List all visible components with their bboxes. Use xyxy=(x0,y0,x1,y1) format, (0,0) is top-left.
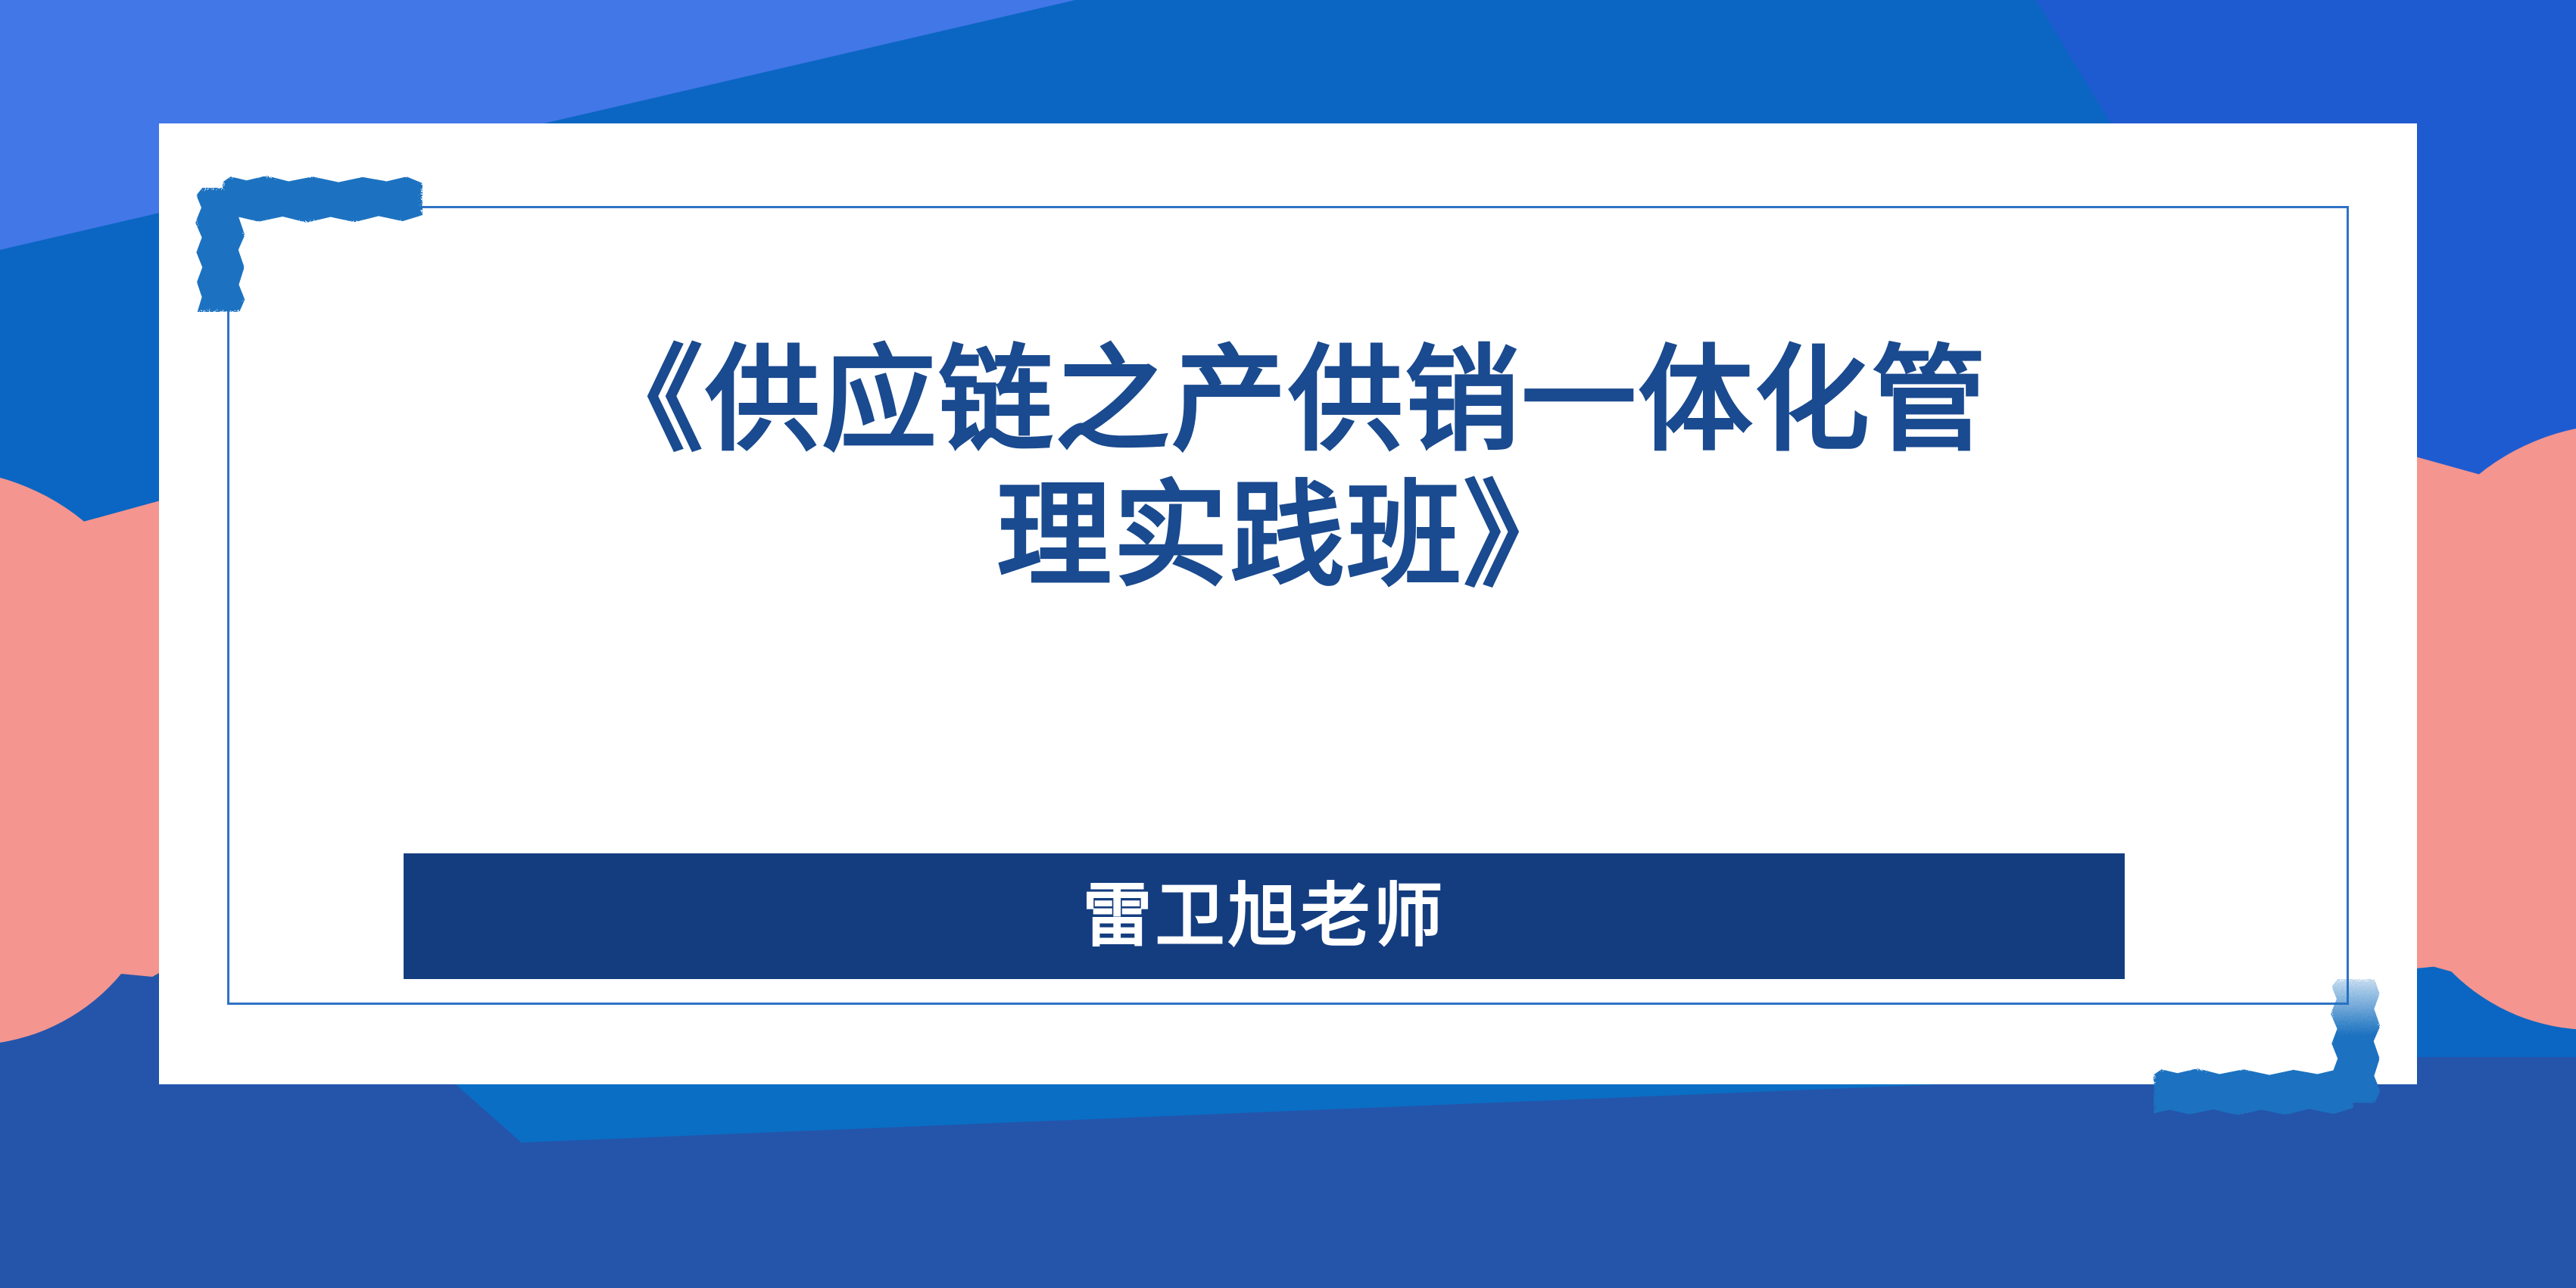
title-line-1: 《供应链之产供销一体化管 xyxy=(227,333,2349,469)
brush-stroke-vertical-icon xyxy=(2331,979,2381,1103)
course-poster: 《供应链之产供销一体化管 理实践班》 雷卫旭老师 xyxy=(0,0,2576,1288)
brush-stroke-bottom-right-icon xyxy=(2153,979,2381,1115)
page-title: 《供应链之产供销一体化管 理实践班》 xyxy=(227,333,2349,605)
brush-stroke-top-left-icon xyxy=(195,176,423,312)
brush-stroke-vertical-icon xyxy=(195,188,245,312)
title-line-2: 理实践班》 xyxy=(227,469,2349,604)
brush-stroke-horizontal-icon xyxy=(2153,1068,2353,1115)
presenter-bar: 雷卫旭老师 xyxy=(404,853,2125,979)
brush-stroke-horizontal-icon xyxy=(223,176,423,223)
presenter-name: 雷卫旭老师 xyxy=(1082,881,1445,951)
